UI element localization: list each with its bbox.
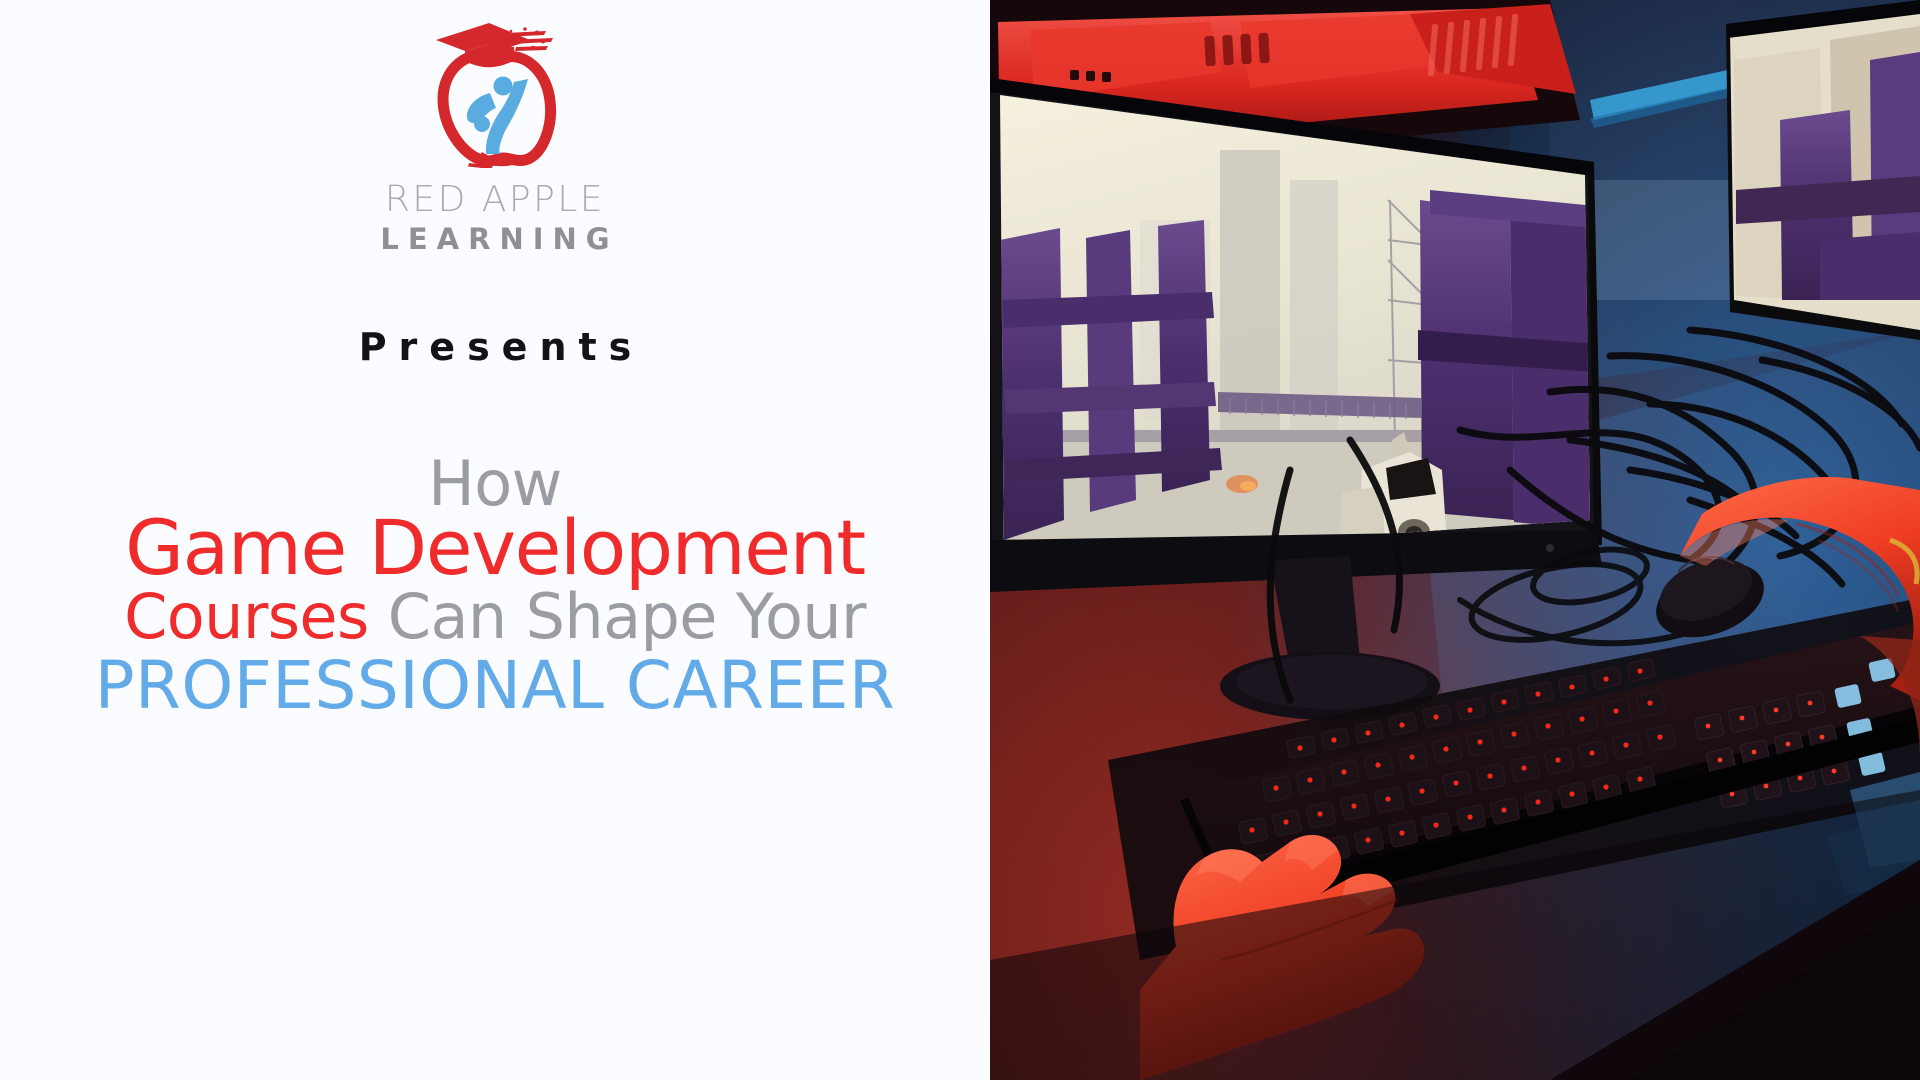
gaming-setup-photo (990, 0, 1920, 1080)
presents-label: Presents (0, 325, 990, 369)
headline-line-2: Game Development (0, 509, 990, 587)
brand-name-line-1: RED APPLE (385, 182, 605, 218)
brand-logo-block: RED APPLE LEARNING (0, 18, 990, 254)
headline-line-3-red: Courses (124, 580, 369, 653)
gaming-setup-illustration (990, 0, 1920, 1080)
brand-wordmark: RED APPLE LEARNING (371, 182, 618, 254)
apple-graduation-cap-logo-icon (430, 18, 560, 168)
second-gaming-monitor (1720, 0, 1920, 340)
headline-block: How Game Development Courses Can Shape Y… (0, 452, 990, 719)
headline-line-3-grey: Can Shape Your (388, 580, 866, 653)
left-content-panel: RED APPLE LEARNING Presents How Game Dev… (0, 0, 990, 1080)
brand-name-line-2: LEARNING (371, 225, 618, 254)
headline-line-4: PROFESSIONAL CAREER (0, 652, 990, 719)
game-wooden-structure-right (1418, 190, 1596, 530)
headline-line-3: Courses Can Shape Your (0, 585, 990, 648)
presentation-slide: RED APPLE LEARNING Presents How Game Dev… (0, 0, 1920, 1080)
